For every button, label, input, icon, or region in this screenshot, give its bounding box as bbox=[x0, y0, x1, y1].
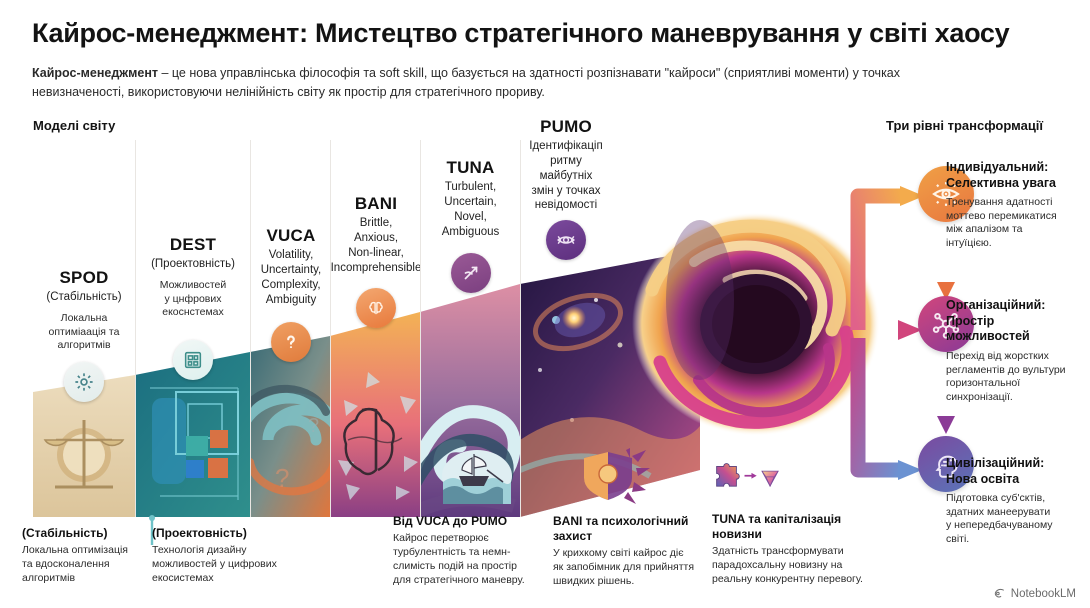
caption-vuca-to-pumo-title: Від VUCA до PUMO bbox=[393, 514, 539, 529]
caption-stability-title: (Стабільність) bbox=[22, 526, 148, 541]
caption-tuna-novelty-desc: Здатність трансформувати парадохсальну н… bbox=[712, 545, 884, 587]
blueprint-icon bbox=[173, 340, 213, 380]
stage-spod-desc: Локальна оптиміаація та алгоритмів bbox=[39, 312, 129, 353]
puzzle-diamond-icon bbox=[712, 446, 784, 502]
stage-tuna-acronym: TUNA bbox=[427, 158, 514, 178]
stage-pumo-acronym: PUMO bbox=[517, 117, 615, 137]
section-label-levels: Три рівні трансформації bbox=[886, 118, 1043, 133]
infographic-canvas: Кайрос-менеджмент: Мистецтво стратегічно… bbox=[0, 0, 1090, 608]
compass-icon bbox=[451, 253, 491, 293]
level-individual-title: Індивідуальний: Селективна увага bbox=[946, 160, 1090, 191]
stage-bani-acronym: BANI bbox=[320, 194, 432, 214]
stage-dest-subtitle: (Проектовність) bbox=[142, 257, 244, 272]
notebooklm-icon bbox=[993, 587, 1006, 600]
caption-stability-desc: Локальна оптимізація та вдосконалення ал… bbox=[22, 544, 148, 586]
caption-tuna-novelty: TUNA та капіталізація новизни Здатність … bbox=[712, 512, 884, 587]
caption-bani-protection-title: BANI та психологічний захист bbox=[553, 514, 707, 544]
stage-dest-acronym: DEST bbox=[142, 235, 244, 255]
page-subtitle: Кайрос-менеджмент – це нова управлінська… bbox=[32, 64, 922, 103]
level-individual-desc: Тренування адатності моттево перемикатис… bbox=[946, 196, 1090, 251]
subtitle-body: – це нова управлінська філософія та soft… bbox=[32, 66, 900, 99]
arrow-to-civilizational bbox=[858, 338, 900, 470]
caption-bani-protection-desc: У крихкому світі кайрос діє як запобімни… bbox=[553, 547, 707, 589]
level-civilizational-title: Цивілізаційний: Нова освіта bbox=[946, 456, 1090, 487]
stage-pumo-subtitle: Ідентифікаціп ритму майбутніх змін у точ… bbox=[517, 139, 615, 213]
stage-spod[interactable]: SPOD (Стабільність) Локальна оптиміаація… bbox=[33, 140, 135, 517]
caption-tuna-novelty-title: TUNA та капіталізація новизни bbox=[712, 512, 884, 542]
caption-projectness-title: (Проектовність) bbox=[152, 526, 302, 541]
eye-spiral-icon bbox=[546, 220, 586, 260]
stage-dest[interactable]: DEST (Проектовність) Можливостей у цнфро… bbox=[135, 140, 250, 517]
caption-stability: (Стабільність) Локальна оптимізація та в… bbox=[22, 526, 148, 586]
caption-projectness: (Проектовність) Технологія дизайну можли… bbox=[152, 526, 302, 586]
kairos-vortex bbox=[632, 212, 880, 436]
stage-tuna-subtitle: Turbulent, Uncertain, Novel, Ambiguous bbox=[427, 180, 514, 239]
caption-bani-protection: BANI та психологічний захист У крихкому … bbox=[553, 514, 707, 589]
page-title: Кайрос-менеджмент: Мистецтво стратегічно… bbox=[32, 18, 1062, 49]
arrow-to-individual bbox=[858, 196, 902, 330]
stage-bani[interactable]: BANI Brittle, Anxious, Non-linear, Incom… bbox=[330, 140, 420, 517]
subtitle-lead: Кайрос-менеджмент bbox=[32, 66, 158, 80]
question-mark-icon bbox=[271, 322, 311, 362]
stage-spod-acronym: SPOD bbox=[39, 268, 129, 288]
stage-dest-desc: Можливостей у цнфрових екоснстемах bbox=[142, 279, 244, 320]
caption-projectness-desc: Технологія дизайну можливостей у цифрови… bbox=[152, 544, 302, 586]
caption-vuca-to-pumo-desc: Кайрос перетворює турбулентність та немн… bbox=[393, 532, 539, 588]
shield-burst-icon bbox=[578, 448, 650, 504]
level-organizational-desc: Перехід від жорстких регламентів до вуль… bbox=[946, 350, 1090, 405]
caption-vuca-to-pumo: Від VUCA до PUMO Кайрос перетворює турбу… bbox=[393, 514, 539, 588]
brain-icon bbox=[356, 288, 396, 328]
gear-icon bbox=[64, 362, 104, 402]
level-civilizational-desc: Підготовка суб'сктів, здатних манееруват… bbox=[946, 492, 1090, 547]
ship-wave-icon bbox=[441, 448, 513, 504]
stage-spod-subtitle: (Стабільність) bbox=[39, 290, 129, 305]
stage-bani-subtitle: Brittle, Anxious, Non-linear, Incomprehe… bbox=[320, 216, 432, 275]
watermark: NotebookLM bbox=[993, 587, 1076, 600]
section-label-models: Моделі світу bbox=[33, 118, 115, 133]
level-organizational-title: Організаційний: Простір можливостей bbox=[946, 298, 1090, 345]
watermark-label: NotebookLM bbox=[1011, 588, 1076, 600]
